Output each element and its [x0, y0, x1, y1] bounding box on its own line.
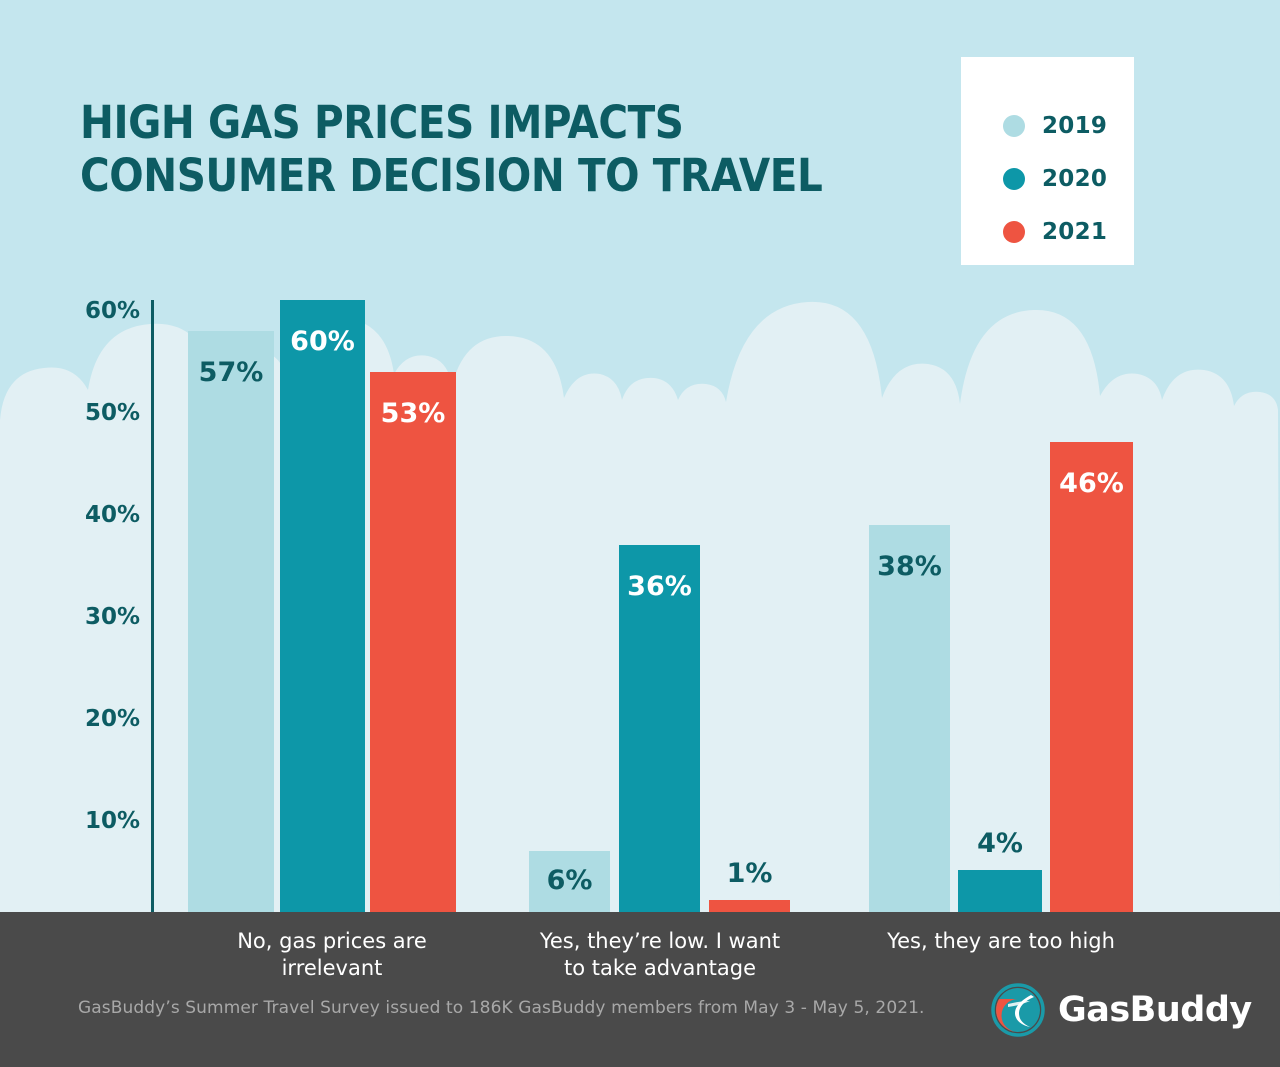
- bar-value-2020-group-2: 36%: [619, 571, 700, 602]
- gasbuddy-logo: GasBuddy: [990, 982, 1252, 1038]
- bar-chart-plot: 60% 50% 40% 30% 20% 10% 57% 60% 53% 6% 3…: [0, 0, 1280, 1067]
- bar-value-2020-group-1: 60%: [280, 326, 365, 357]
- survey-caption: GasBuddy’s Summer Travel Survey issued t…: [78, 998, 925, 1018]
- bar-value-2020-group-3: 4%: [958, 828, 1042, 859]
- y-axis-line: [151, 300, 154, 912]
- y-axis-tick-30: 30%: [76, 604, 140, 630]
- bar-value-2021-group-2: 1%: [709, 858, 790, 889]
- bar-2019-group-1: 57%: [188, 331, 274, 912]
- bar-value-2021-group-3: 46%: [1050, 468, 1133, 499]
- infographic-root: HIGH GAS PRICES IMPACTS CONSUMER DECISIO…: [0, 0, 1280, 1067]
- bar-2020-group-1: 60%: [280, 300, 365, 912]
- bar-value-2019-group-2: 6%: [529, 865, 610, 896]
- bar-value-2019-group-1: 57%: [188, 357, 274, 388]
- bar-2020-group-2: 36%: [619, 545, 700, 912]
- bar-2019-group-2: 6%: [529, 851, 610, 912]
- bar-2021-group-3: 46%: [1050, 442, 1133, 912]
- y-axis-tick-40: 40%: [76, 502, 140, 528]
- gasbuddy-mark-icon: [990, 982, 1046, 1038]
- y-axis-tick-50: 50%: [76, 400, 140, 426]
- gasbuddy-logo-text: GasBuddy: [1058, 990, 1252, 1030]
- bar-2020-group-3: 4%: [958, 870, 1042, 912]
- bar-2021-group-2: 1%: [709, 900, 790, 912]
- y-axis-tick-20: 20%: [76, 706, 140, 732]
- category-label-3: Yes, they are too high: [841, 928, 1161, 955]
- y-axis-tick-10: 10%: [76, 808, 140, 834]
- bar-value-2019-group-3: 38%: [869, 551, 950, 582]
- bar-value-2021-group-1: 53%: [370, 398, 456, 429]
- y-axis-tick-60: 60%: [76, 298, 140, 324]
- category-label-1: No, gas prices are irrelevant: [172, 928, 492, 983]
- bar-2019-group-3: 38%: [869, 525, 950, 912]
- bar-2021-group-1: 53%: [370, 372, 456, 912]
- category-label-2: Yes, they’re low. I want to take advanta…: [500, 928, 820, 983]
